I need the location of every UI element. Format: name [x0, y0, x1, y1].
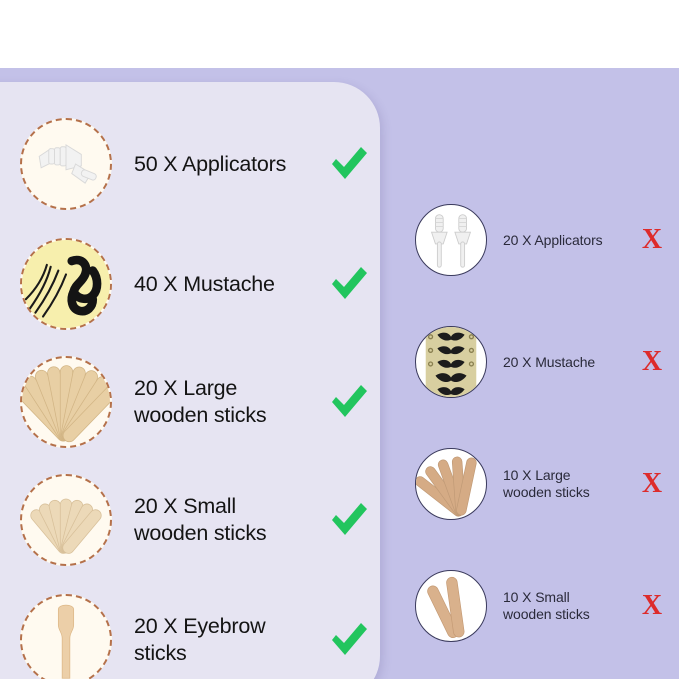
applicator-pair-icon [415, 204, 487, 276]
ours-item-label: 20 X Large wooden sticks [112, 375, 326, 429]
applicator-single-icon [20, 118, 112, 210]
others-item-large-sticks: 10 X Large wooden sticks X [415, 438, 669, 530]
ours-item-line2: sticks [134, 640, 326, 667]
ours-item-small-sticks: 20 X Small wooden sticks [20, 468, 372, 572]
others-item-applicators: 20 X Applicators X [415, 194, 669, 286]
green-check-icon [326, 383, 372, 421]
others-item-label: 20 X Applicators [487, 232, 635, 249]
ours-item-label: 20 X Eyebrow sticks [112, 613, 326, 667]
mustache-sheet-art [22, 240, 110, 328]
eyebrow-stick-icon [20, 594, 112, 679]
others-item-mustache: 20 X Mustache X [415, 316, 669, 408]
others-item-line1: 10 X Large [503, 467, 635, 484]
ours-item-large-sticks: 20 X Large wooden sticks [20, 350, 372, 454]
ours-item-eyebrow-sticks: 20 X Eyebrow sticks [20, 588, 372, 679]
ours-item-line1: 40 X Mustache [134, 271, 326, 298]
large-wooden-sticks-fan-icon [20, 356, 112, 448]
green-check-icon [326, 265, 372, 303]
red-cross-icon: X [635, 226, 669, 254]
red-cross-glyph: X [642, 468, 662, 499]
others-item-line1: 10 X Small [503, 589, 635, 606]
mustache-multi-sheet-art [416, 327, 486, 397]
ours-item-line2: wooden sticks [134, 402, 326, 429]
others-item-label: 10 X Large wooden sticks [487, 467, 635, 501]
mustache-multi-sheet-icon [415, 326, 487, 398]
ours-item-line1: 20 X Small [134, 493, 326, 520]
ours-item-label: 20 X Small wooden sticks [112, 493, 326, 547]
red-cross-icon: X [635, 470, 669, 498]
ours-item-line1: 50 X Applicators [134, 151, 326, 178]
red-cross-icon: X [635, 592, 669, 620]
others-item-line2: wooden sticks [503, 606, 635, 623]
large-wooden-sticks-few-art [416, 449, 486, 519]
green-check-icon [326, 145, 372, 183]
mustache-sheet-icon [20, 238, 112, 330]
small-wooden-sticks-fan-icon [20, 474, 112, 566]
header-band [0, 0, 679, 68]
red-cross-glyph: X [642, 346, 662, 377]
ours-item-line1: 20 X Large [134, 375, 326, 402]
red-cross-glyph: X [642, 224, 662, 255]
red-cross-icon: X [635, 348, 669, 376]
infographic-page: More Sticks, More Value! [0, 0, 679, 679]
applicator-pair-art [416, 205, 486, 275]
large-wooden-sticks-fan-art [22, 358, 110, 446]
ours-item-applicators: 50 X Applicators [20, 112, 372, 216]
ours-item-mustache: 40 X Mustache [20, 232, 372, 336]
eyebrow-stick-art [22, 596, 110, 679]
others-item-line1: 20 X Applicators [503, 232, 635, 249]
small-wooden-sticks-fan-art [22, 476, 110, 564]
others-item-line1: 20 X Mustache [503, 354, 635, 371]
others-item-label: 10 X Small wooden sticks [487, 589, 635, 623]
green-check-icon [326, 501, 372, 539]
others-item-small-sticks: 10 X Small wooden sticks X [415, 560, 669, 652]
ours-item-line1: 20 X Eyebrow [134, 613, 326, 640]
ours-item-label: 40 X Mustache [112, 271, 326, 298]
ours-item-label: 50 X Applicators [112, 151, 326, 178]
others-item-label: 20 X Mustache [487, 354, 635, 371]
small-wooden-sticks-few-art [416, 571, 486, 641]
applicator-single-art [22, 120, 110, 208]
red-cross-glyph: X [642, 590, 662, 621]
ours-item-line2: wooden sticks [134, 520, 326, 547]
others-item-line2: wooden sticks [503, 484, 635, 501]
small-wooden-sticks-few-icon [415, 570, 487, 642]
large-wooden-sticks-few-icon [415, 448, 487, 520]
green-check-icon [326, 621, 372, 659]
